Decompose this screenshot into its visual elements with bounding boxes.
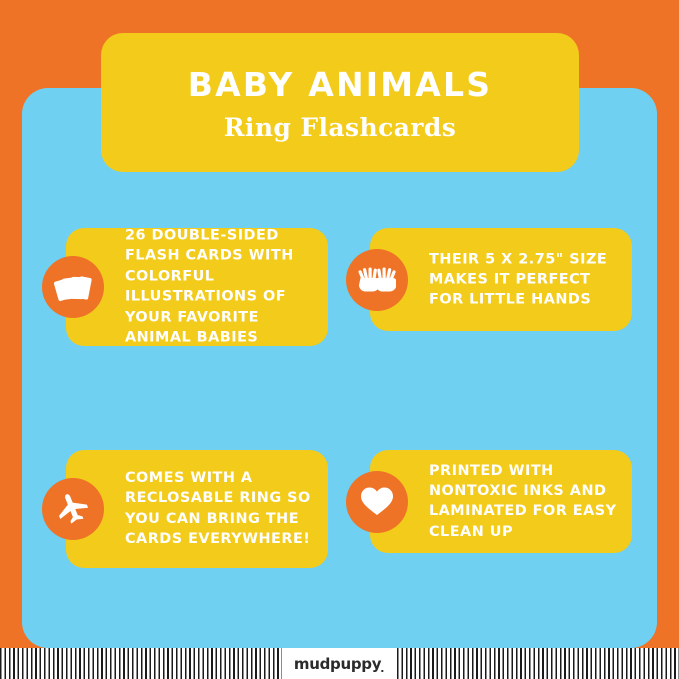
page-subtitle: Ring Flashcards	[224, 113, 456, 142]
feature-card-1: 26 double-sided flash cards with colorfu…	[66, 228, 328, 346]
feature-text-4: Printed with nontoxic inks and laminated…	[429, 461, 620, 543]
feature-text-3: Comes with a reclosable ring so you can …	[125, 468, 316, 550]
title-card: BABY ANIMALS Ring Flashcards	[101, 33, 579, 172]
airplane-icon	[42, 478, 104, 540]
hands-icon	[346, 249, 408, 311]
page-title: BABY ANIMALS	[188, 67, 492, 103]
feature-text-2: Their 5 x 2.75" size makes it perfect fo…	[429, 249, 620, 310]
brand-logo: mudpuppy.	[294, 655, 385, 673]
footer-bar: mudpuppy.	[0, 648, 679, 679]
brand-tail: .	[380, 662, 384, 675]
feature-card-4: Printed with nontoxic inks and laminated…	[370, 450, 632, 553]
product-feature-graphic: BABY ANIMALS Ring Flashcards 26 double-s…	[0, 0, 679, 679]
heart-icon	[346, 471, 408, 533]
barcode-stripes-left	[0, 648, 282, 679]
feature-text-1: 26 double-sided flash cards with colorfu…	[125, 226, 316, 349]
flashcards-icon	[42, 256, 104, 318]
brand-name: mudpuppy	[294, 655, 381, 673]
feature-card-2: Their 5 x 2.75" size makes it perfect fo…	[370, 228, 632, 331]
feature-card-3: Comes with a reclosable ring so you can …	[66, 450, 328, 568]
barcode-stripes-right	[397, 648, 679, 679]
